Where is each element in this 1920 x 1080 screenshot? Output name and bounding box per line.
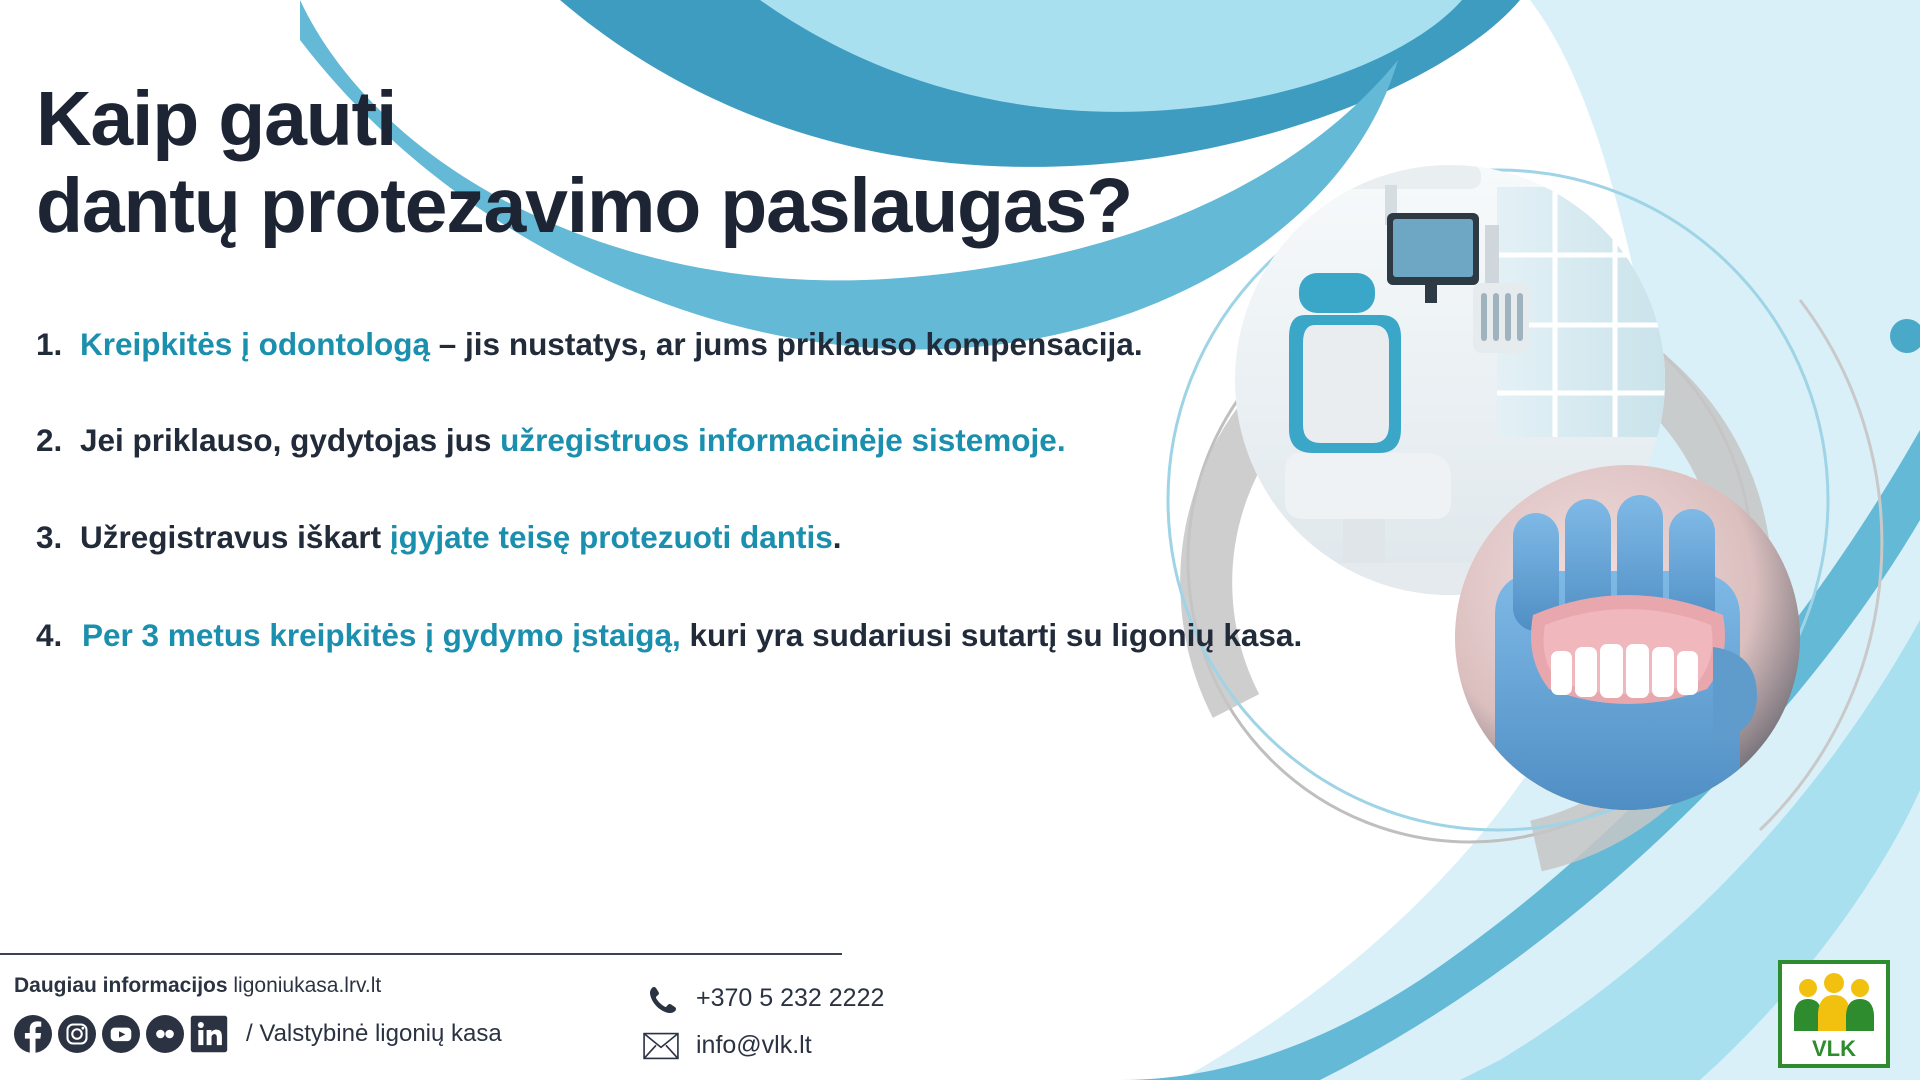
step-number-4: 4. [36, 613, 82, 659]
phone-row[interactable]: +370 5 232 2222 [640, 975, 1060, 1022]
youtube-icon[interactable] [102, 1015, 140, 1053]
step-1-accent-segment: Kreipkitės į odontologą [80, 326, 430, 362]
step-4-accent-segment: Per 3 metus kreipkitės į gydymo įstaigą, [82, 617, 681, 653]
step-3-period-segment: . [833, 519, 842, 555]
step-text-4: Per 3 metus kreipkitės į gydymo įstaigą,… [82, 613, 1781, 659]
step-item-4: 4. Per 3 metus kreipkitės į gydymo įstai… [36, 613, 1781, 659]
facebook-icon[interactable] [14, 1015, 52, 1053]
step-2-accent-segment: užregistruos informacinėje sistemoje. [500, 422, 1065, 458]
instagram-icon[interactable] [58, 1015, 96, 1053]
vlk-logo-mark: VLK [1778, 960, 1890, 1068]
vlk-logo-text: VLK [1812, 1036, 1856, 1061]
step-item-1: 1. Kreipkitės į odontologą – jis nustaty… [36, 322, 1781, 368]
phone-icon [640, 982, 682, 1016]
page-title-line-1: Kaip gauti [36, 76, 1326, 164]
flickr-icon[interactable] [146, 1015, 184, 1053]
page-title-line-2: dantų protezavimo paslaugas? [36, 163, 1326, 251]
step-text-1: Kreipkitės į odontologą – jis nustatys, … [80, 322, 1781, 368]
step-number-3: 3. [36, 515, 80, 561]
envelope-icon [640, 1029, 682, 1063]
linkedin-icon[interactable] [190, 1015, 228, 1053]
step-4-normal-segment: kuri yra sudariusi sutartį su ligonių ka… [681, 617, 1302, 653]
poster-canvas: Kaip gauti dantų protezavimo paslaugas? … [0, 0, 1920, 1080]
website-url[interactable]: ligoniukasa.lrv.lt [233, 974, 381, 997]
footer-contacts: +370 5 232 2222 info@vlk.lt [640, 975, 1060, 1069]
step-text-3: Užregistravus iškart įgyjate teisę prote… [80, 515, 1781, 561]
step-3-accent-segment: įgyjate teisę protezuoti dantis [390, 519, 833, 555]
accent-dot [1890, 319, 1920, 353]
footer-divider [0, 953, 842, 955]
step-number-2: 2. [36, 418, 80, 464]
step-2-normal-segment: Jei priklauso, gydytojas jus [80, 422, 500, 458]
vlk-logo[interactable]: VLK [1778, 960, 1890, 1068]
phone-number: +370 5 232 2222 [696, 984, 884, 1013]
email-row[interactable]: info@vlk.lt [640, 1022, 1060, 1069]
step-1-normal-segment: – jis nustatys, ar jums priklauso kompen… [430, 326, 1143, 362]
email-address: info@vlk.lt [696, 1031, 812, 1060]
step-text-2: Jei priklauso, gydytojas jus užregistruo… [80, 418, 1781, 464]
page-title: Kaip gauti dantų protezavimo paslaugas? [36, 76, 1326, 252]
step-item-3: 3. Užregistravus iškart įgyjate teisę pr… [36, 515, 1781, 561]
step-3-normal-segment: Užregistravus iškart [80, 519, 390, 555]
step-number-1: 1. [36, 322, 80, 368]
steps-list: 1. Kreipkitės į odontologą – jis nustaty… [36, 322, 1781, 659]
more-info-label: Daugiau informacijos [14, 974, 228, 997]
social-handle-label: / Valstybinė ligonių kasa [246, 1020, 502, 1048]
step-item-2: 2. Jei priklauso, gydytojas jus užregist… [36, 418, 1781, 464]
